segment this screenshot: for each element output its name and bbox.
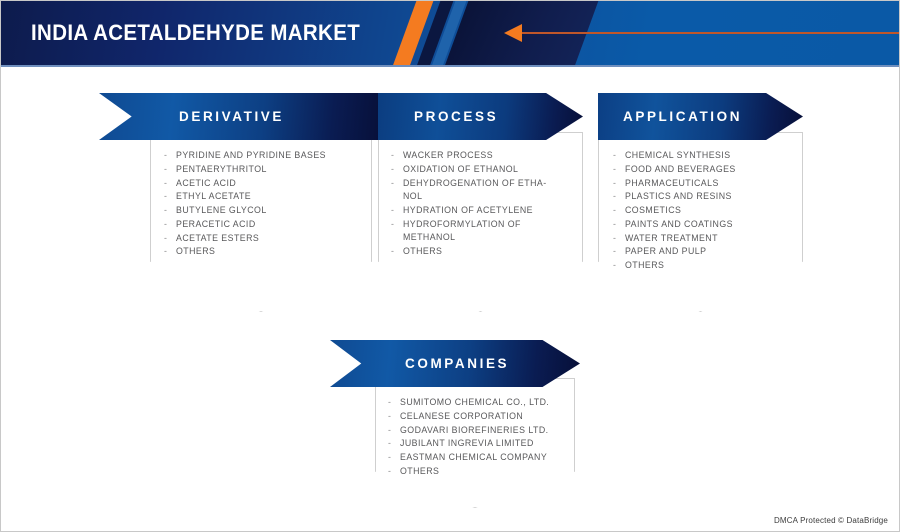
list-item: EASTMAN CHEMICAL COMPANY xyxy=(387,451,572,465)
banner-application[interactable]: APPLICATION xyxy=(598,93,803,140)
banner-process[interactable]: PROCESS xyxy=(378,93,583,140)
list-item: GODAVARI BIOREFINERIES LTD. xyxy=(387,424,572,438)
list-item: SUMITOMO CHEMICAL CO., LTD. xyxy=(387,396,572,410)
list-item: PAPER AND PULP xyxy=(612,245,797,259)
list-item: FOOD AND BEVERAGES xyxy=(612,163,797,177)
list-item: PLASTICS AND RESINS xyxy=(612,190,797,204)
page-title: INDIA ACETALDEHYDE MARKET xyxy=(31,20,360,46)
list-item: OTHERS xyxy=(612,259,797,273)
list-item: HYDRATION OF ACETYLENE xyxy=(390,204,570,218)
list-derivative: PYRIDINE AND PYRIDINE BASESPENTAERYTHRIT… xyxy=(163,149,363,259)
list-item: PERACETIC ACID xyxy=(163,218,363,232)
list-item: CELANESE CORPORATION xyxy=(387,410,572,424)
list-item: ETHYL ACETATE xyxy=(163,190,363,204)
list-item: CHEMICAL SYNTHESIS xyxy=(612,149,797,163)
list-item: OTHERS xyxy=(390,245,570,259)
list-item: DEHYDROGENATION OF ETHA- NOL xyxy=(390,177,570,204)
list-item: PHARMACEUTICALS xyxy=(612,177,797,191)
list-item: PAINTS AND COATINGS xyxy=(612,218,797,232)
banner-companies-label: COMPANIES xyxy=(405,356,509,371)
list-item: BUTYLENE GLYCOL xyxy=(163,204,363,218)
list-application: CHEMICAL SYNTHESISFOOD AND BEVERAGESPHAR… xyxy=(612,149,797,273)
list-item: HYDROFORMYLATION OF METHANOL xyxy=(390,218,570,245)
list-item: JUBILANT INGREVIA LIMITED xyxy=(387,437,572,451)
list-companies: SUMITOMO CHEMICAL CO., LTD.CELANESE CORP… xyxy=(387,396,572,479)
list-item: WACKER PROCESS xyxy=(390,149,570,163)
list-item: OTHERS xyxy=(387,465,572,479)
banner-application-label: APPLICATION xyxy=(623,109,742,124)
banner-companies[interactable]: COMPANIES xyxy=(330,340,580,387)
list-process: WACKER PROCESSOXIDATION OF ETHANOLDEHYDR… xyxy=(390,149,570,259)
left-arrow-icon xyxy=(504,24,522,42)
list-item: ACETATE ESTERS xyxy=(163,232,363,246)
banner-derivative-label: DERIVATIVE xyxy=(179,109,284,124)
page-header: INDIA ACETALDEHYDE MARKET xyxy=(0,0,900,67)
list-item: PYRIDINE AND PYRIDINE BASES xyxy=(163,149,363,163)
list-item: ACETIC ACID xyxy=(163,177,363,191)
dmca-notice: DMCA Protected © DataBridge xyxy=(774,516,888,525)
banner-derivative[interactable]: DERIVATIVE xyxy=(99,93,383,140)
list-item: OXIDATION OF ETHANOL xyxy=(390,163,570,177)
list-item: WATER TREATMENT xyxy=(612,232,797,246)
header-arrow-line xyxy=(520,32,900,34)
list-item: PENTAERYTHRITOL xyxy=(163,163,363,177)
header-underline xyxy=(0,65,900,67)
banner-process-label: PROCESS xyxy=(414,109,498,124)
list-item: OTHERS xyxy=(163,245,363,259)
list-item: COSMETICS xyxy=(612,204,797,218)
